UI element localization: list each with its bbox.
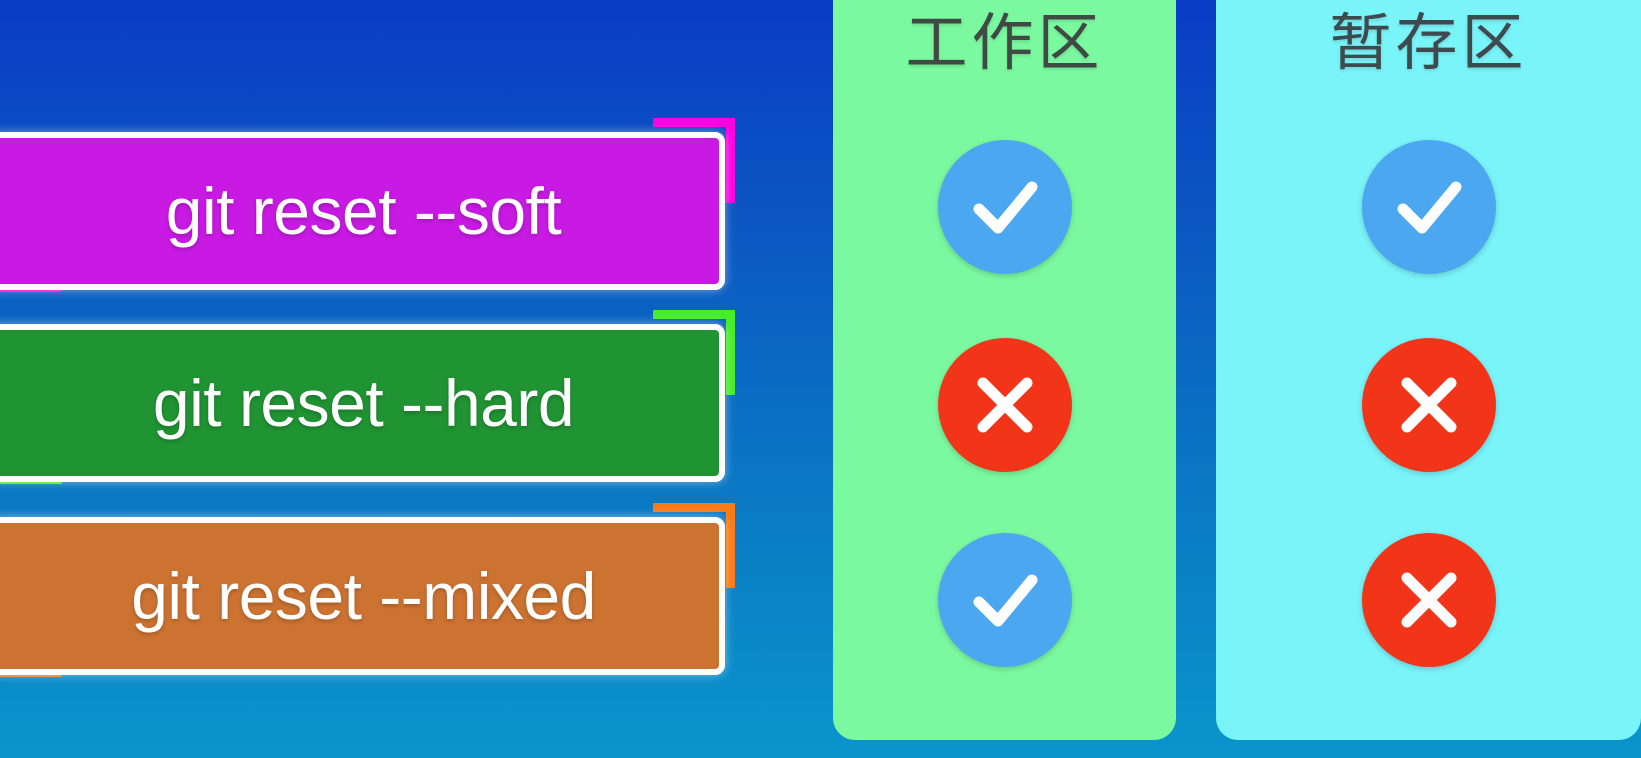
panel-worktree: 工作区	[833, 0, 1176, 740]
command-card-body-soft[interactable]: git reset --soft	[0, 132, 725, 290]
accent-bracket-top-soft	[653, 118, 735, 127]
check-icon	[1383, 161, 1475, 253]
cross-icon	[1383, 359, 1475, 451]
status-cell-staging-soft	[1216, 140, 1641, 274]
status-badge-cross	[1362, 533, 1496, 667]
command-label-hard: git reset --hard	[141, 365, 574, 441]
cross-icon	[1383, 554, 1475, 646]
accent-bracket-top-mixed	[653, 503, 735, 512]
status-badge-check	[938, 533, 1072, 667]
panel-staging: 暂存区	[1216, 0, 1641, 740]
command-label-mixed: git reset --mixed	[119, 558, 596, 634]
accent-bracket-right-soft	[726, 118, 735, 203]
accent-bracket-right-hard	[726, 310, 735, 395]
command-card-body-hard[interactable]: git reset --hard	[0, 324, 725, 482]
command-card-mixed[interactable]: git reset --mixed	[0, 503, 735, 675]
status-cell-staging-hard	[1216, 338, 1641, 472]
status-badge-cross	[938, 338, 1072, 472]
accent-bracket-right-mixed	[726, 503, 735, 588]
panel-title-worktree: 工作区	[905, 8, 1103, 79]
command-card-body-mixed[interactable]: git reset --mixed	[0, 517, 725, 675]
command-card-soft[interactable]: git reset --soft	[0, 118, 735, 290]
command-list: git reset --soft git reset --hard git re…	[0, 0, 740, 758]
status-cell-staging-mixed	[1216, 533, 1641, 667]
command-card-hard[interactable]: git reset --hard	[0, 310, 735, 482]
status-cell-worktree-hard	[833, 338, 1176, 472]
panel-title-staging: 暂存区	[1329, 8, 1527, 79]
status-badge-check	[938, 140, 1072, 274]
status-badge-check	[1362, 140, 1496, 274]
check-icon	[959, 554, 1051, 646]
cross-icon	[959, 359, 1051, 451]
command-label-soft: git reset --soft	[154, 173, 561, 249]
accent-bracket-top-hard	[653, 310, 735, 319]
status-badge-cross	[1362, 338, 1496, 472]
check-icon	[959, 161, 1051, 253]
status-cell-worktree-soft	[833, 140, 1176, 274]
status-cell-worktree-mixed	[833, 533, 1176, 667]
